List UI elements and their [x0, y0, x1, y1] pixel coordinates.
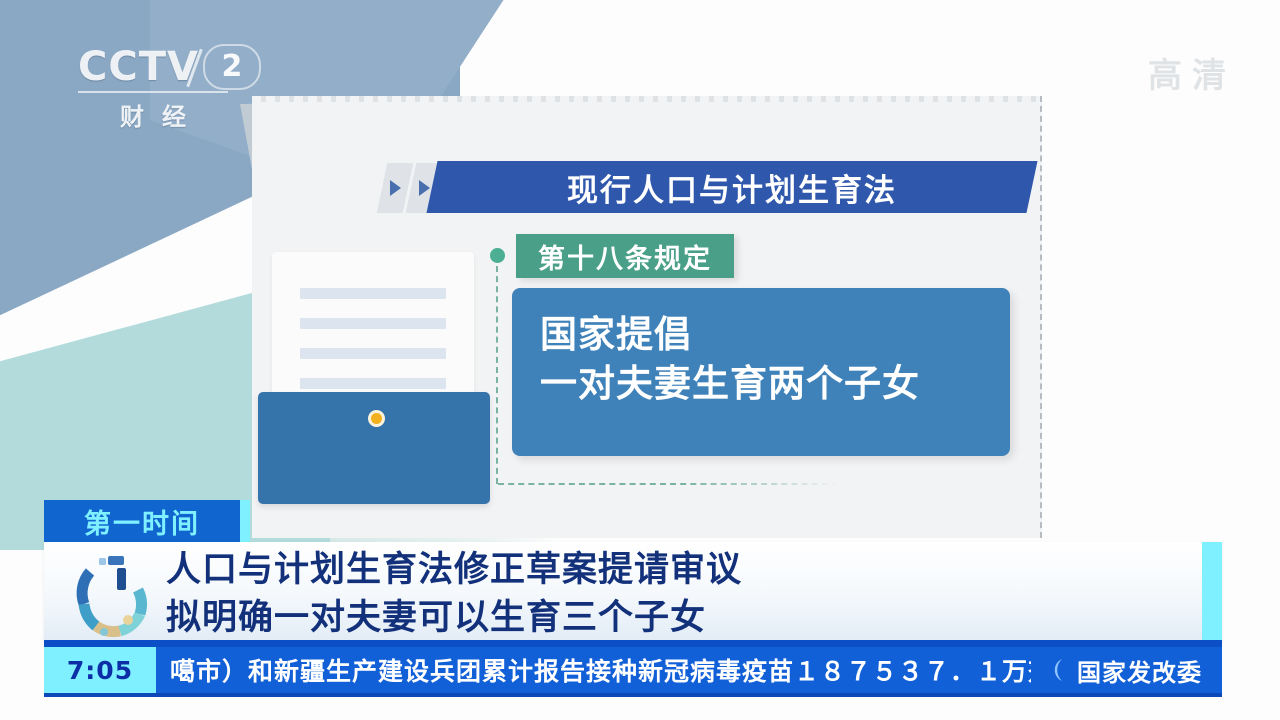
- statement-card: 国家提倡 一对夫妻生育两个子女: [512, 288, 1010, 456]
- folder-clasp-icon: [368, 410, 385, 427]
- document-text-line-2: [300, 318, 446, 329]
- crescent-icon: [1045, 657, 1067, 683]
- program-tag: 第一时间: [44, 500, 240, 542]
- chevron-triangle-2: [419, 180, 430, 196]
- statement-line-1: 国家提倡: [540, 310, 1010, 359]
- program-tag-cyan-accent: [240, 500, 250, 542]
- channel-logo-row: CCTV 2: [78, 44, 268, 90]
- panel-top-perforation: [252, 96, 1040, 102]
- broadcast-screen: 高清 CCTV 2 财经 现行人口与计划生育法 第十八条规定: [0, 0, 1280, 720]
- chevron-triangle-1: [390, 180, 401, 196]
- channel-logo-underline: [78, 91, 228, 93]
- ticker-text: 噶市）和新疆生产建设兵团累计报告接种新冠病毒疫苗１８７５３７．１万剂次。: [170, 652, 1031, 688]
- ticker-scroll-area: 噶市）和新疆生产建设兵团累计报告接种新冠病毒疫苗１８７５３７．１万剂次。: [156, 647, 1031, 693]
- timeline-dashed-horizontal: [498, 483, 838, 485]
- headline-band-cyan-accent: [1202, 542, 1222, 642]
- document-text-line-4: [300, 378, 446, 389]
- news-ticker: 7:05 噶市）和新疆生产建设兵团累计报告接种新冠病毒疫苗１８７５３７．１万剂次…: [44, 647, 1222, 693]
- ticker-source-label: 国家发改委: [1077, 653, 1202, 688]
- ticker-source: 国家发改委: [1031, 647, 1222, 693]
- graphic-banner-title: 现行人口与计划生育法: [567, 165, 897, 210]
- program-arc-logo: [68, 552, 158, 638]
- article-badge-label: 第十八条规定: [538, 237, 712, 276]
- article-badge: 第十八条规定: [516, 234, 734, 278]
- headline-line-2: 拟明确一对夫妻可以生育三个子女: [166, 594, 1166, 642]
- channel-logo: CCTV 2 财经: [78, 44, 268, 134]
- document-text-line-3: [300, 348, 446, 359]
- timeline-dashed-vertical: [496, 266, 498, 484]
- document-text-line-1: [300, 288, 446, 299]
- ticker-bottom-rule: [44, 693, 1222, 697]
- program-tag-label: 第一时间: [84, 502, 200, 541]
- document-folder-illustration: [258, 392, 490, 504]
- channel-logo-subtitle: 财经: [78, 97, 228, 132]
- ticker-clock-value: 7:05: [67, 656, 133, 685]
- timeline-dot-icon: [490, 248, 505, 263]
- ticker-clock: 7:05: [44, 647, 156, 693]
- headline-line-1: 人口与计划生育法修正草案提请审议: [166, 546, 1166, 594]
- statement-line-2: 一对夫妻生育两个子女: [540, 359, 1010, 408]
- graphic-banner-inner: 现行人口与计划生育法: [432, 161, 1032, 213]
- hd-watermark: 高清: [1148, 48, 1236, 97]
- channel-logo-word: CCTV: [78, 47, 199, 87]
- channel-logo-number: 2: [222, 52, 243, 82]
- headline: 人口与计划生育法修正草案提请审议 拟明确一对夫妻可以生育三个子女: [166, 546, 1166, 642]
- channel-number-pill: 2: [203, 44, 261, 90]
- graphic-banner: 现行人口与计划生育法: [426, 161, 1037, 213]
